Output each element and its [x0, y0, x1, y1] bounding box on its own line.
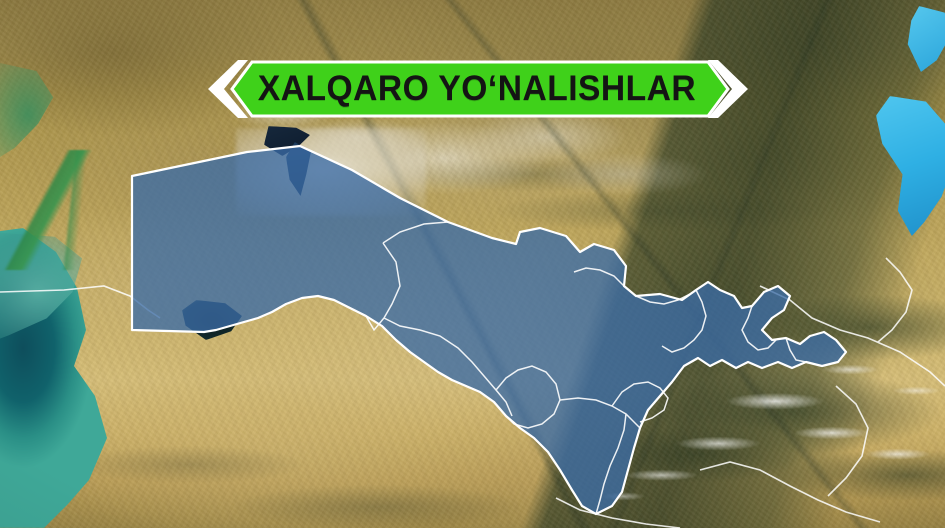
broadcast-graphic: XALQARO YO‘NALISHLAR: [0, 0, 945, 528]
headline-banner: XALQARO YO‘NALISHLAR: [202, 59, 752, 119]
headline-text: XALQARO YO‘NALISHLAR: [213, 59, 741, 119]
uzbekistan-highlight-region: [132, 146, 846, 514]
